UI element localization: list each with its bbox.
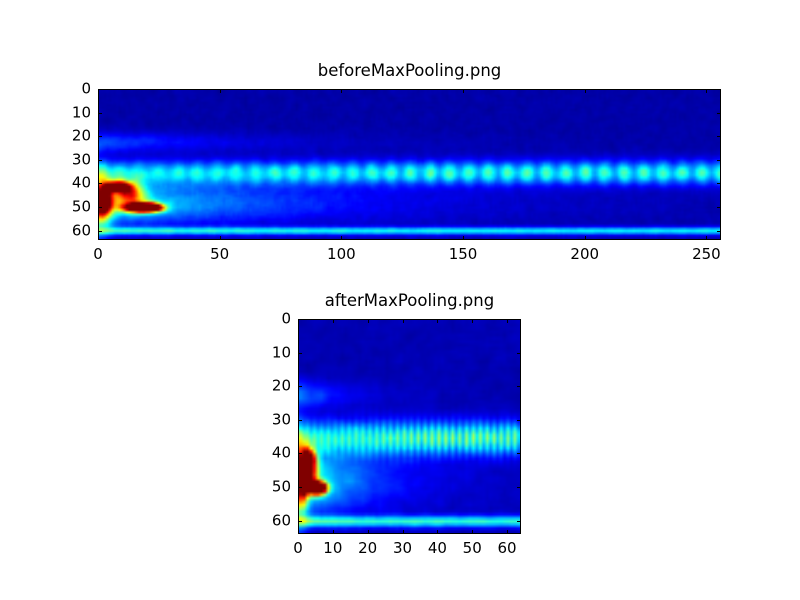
x-tick-mark [220,236,221,240]
x-tick-mark-top [472,319,473,323]
chart-title-before: beforeMaxPooling.png [98,63,721,80]
y-tick-mark [298,521,302,522]
x-tick-label: 200 [570,247,599,262]
x-tick-mark [463,236,464,240]
x-tick-mark-top [585,89,586,93]
y-tick-label: 50 [72,199,91,214]
matplotlib-figure: beforeMaxPooling.png 0501001502002500102… [0,0,800,600]
y-tick-mark [98,160,102,161]
chart-title-after: afterMaxPooling.png [298,293,521,310]
y-tick-mark [98,113,102,114]
y-tick-mark [298,420,302,421]
x-tick-label: 50 [463,541,482,556]
y-tick-mark [298,319,302,320]
x-tick-mark [98,236,99,240]
y-tick-label: 60 [72,223,91,238]
y-tick-mark-right [517,319,521,320]
heatmap-plot-after [298,319,521,534]
y-tick-label: 60 [272,513,291,528]
y-tick-label: 40 [72,176,91,191]
y-tick-label: 10 [272,345,291,360]
y-tick-label: 30 [72,152,91,167]
y-tick-mark-right [517,521,521,522]
x-tick-mark-top [403,319,404,323]
x-tick-mark [507,530,508,534]
y-tick-mark [98,136,102,137]
y-tick-label: 50 [272,479,291,494]
x-tick-mark [368,530,369,534]
y-tick-mark-right [717,89,721,90]
x-tick-label: 250 [692,247,721,262]
x-tick-mark-top [706,89,707,93]
x-tick-mark-top [333,319,334,323]
x-tick-mark [706,236,707,240]
x-tick-label: 20 [358,541,377,556]
x-tick-mark [298,530,299,534]
x-tick-label: 30 [393,541,412,556]
heatmap-plot-before [98,89,721,240]
y-tick-mark [298,386,302,387]
y-tick-label: 0 [81,82,91,97]
y-tick-mark [98,207,102,208]
y-tick-mark [98,231,102,232]
y-tick-label: 20 [72,129,91,144]
y-tick-mark [98,89,102,90]
x-tick-mark [403,530,404,534]
y-tick-mark [298,487,302,488]
y-tick-mark [298,353,302,354]
x-tick-label: 100 [327,247,356,262]
y-tick-mark-right [517,453,521,454]
y-tick-mark-right [717,207,721,208]
x-tick-label: 0 [93,247,103,262]
x-tick-label: 150 [449,247,478,262]
y-tick-mark-right [517,420,521,421]
y-tick-mark-right [717,231,721,232]
y-tick-mark-right [717,136,721,137]
y-tick-label: 10 [72,105,91,120]
x-tick-mark [437,530,438,534]
x-tick-label: 0 [293,541,303,556]
x-tick-label: 50 [210,247,229,262]
y-tick-label: 0 [281,312,291,327]
y-tick-mark-right [517,353,521,354]
x-tick-mark-top [437,319,438,323]
x-tick-mark [333,530,334,534]
y-tick-mark [98,183,102,184]
y-tick-mark-right [517,487,521,488]
x-tick-mark-top [341,89,342,93]
y-tick-mark-right [717,113,721,114]
y-tick-label: 30 [272,412,291,427]
x-tick-mark-top [220,89,221,93]
axes-before-max-pooling: beforeMaxPooling.png 0501001502002500102… [98,89,721,240]
axes-after-max-pooling: afterMaxPooling.png 01020304050600102030… [298,319,521,534]
x-tick-label: 10 [323,541,342,556]
x-tick-mark [341,236,342,240]
x-tick-label: 60 [498,541,517,556]
y-tick-label: 20 [272,379,291,394]
x-tick-mark-top [507,319,508,323]
y-tick-label: 40 [272,446,291,461]
x-tick-mark-top [463,89,464,93]
x-tick-mark [472,530,473,534]
y-tick-mark [298,453,302,454]
x-tick-mark-top [368,319,369,323]
heatmap-canvas-after [299,320,520,533]
x-tick-label: 40 [428,541,447,556]
y-tick-mark-right [717,160,721,161]
heatmap-canvas-before [99,90,720,239]
y-tick-mark-right [717,183,721,184]
x-tick-mark [585,236,586,240]
y-tick-mark-right [517,386,521,387]
